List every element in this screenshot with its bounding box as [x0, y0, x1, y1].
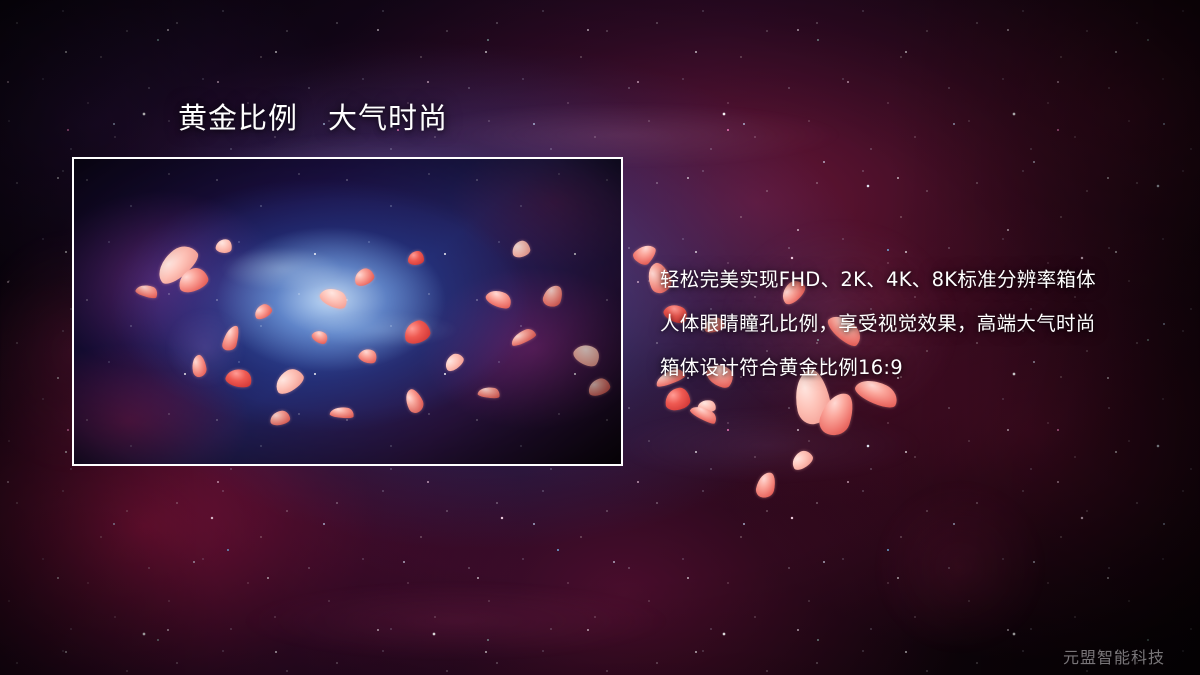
body-line: 轻松完美实现FHD、2K、4K、8K标准分辨率箱体 — [660, 258, 1160, 302]
page-title: 黄金比例 大气时尚 — [178, 101, 448, 135]
body-line: 人体眼睛瞳孔比例，享受视觉效果，高端大气时尚 — [660, 302, 1160, 346]
body-line: 箱体设计符合黄金比例16:9 — [660, 346, 1160, 390]
body-text-block: 轻松完美实现FHD、2K、4K、8K标准分辨率箱体 人体眼睛瞳孔比例，享受视觉效… — [660, 258, 1160, 390]
panel-vignette — [74, 159, 621, 464]
watermark-label: 元盟智能科技 — [1063, 648, 1165, 668]
framed-image-panel — [72, 157, 623, 466]
presentation-slide: 黄金比例 大气时尚 轻松完美实现FHD、2K、4K、8K标准分辨率箱体 人体眼睛… — [0, 0, 1200, 675]
